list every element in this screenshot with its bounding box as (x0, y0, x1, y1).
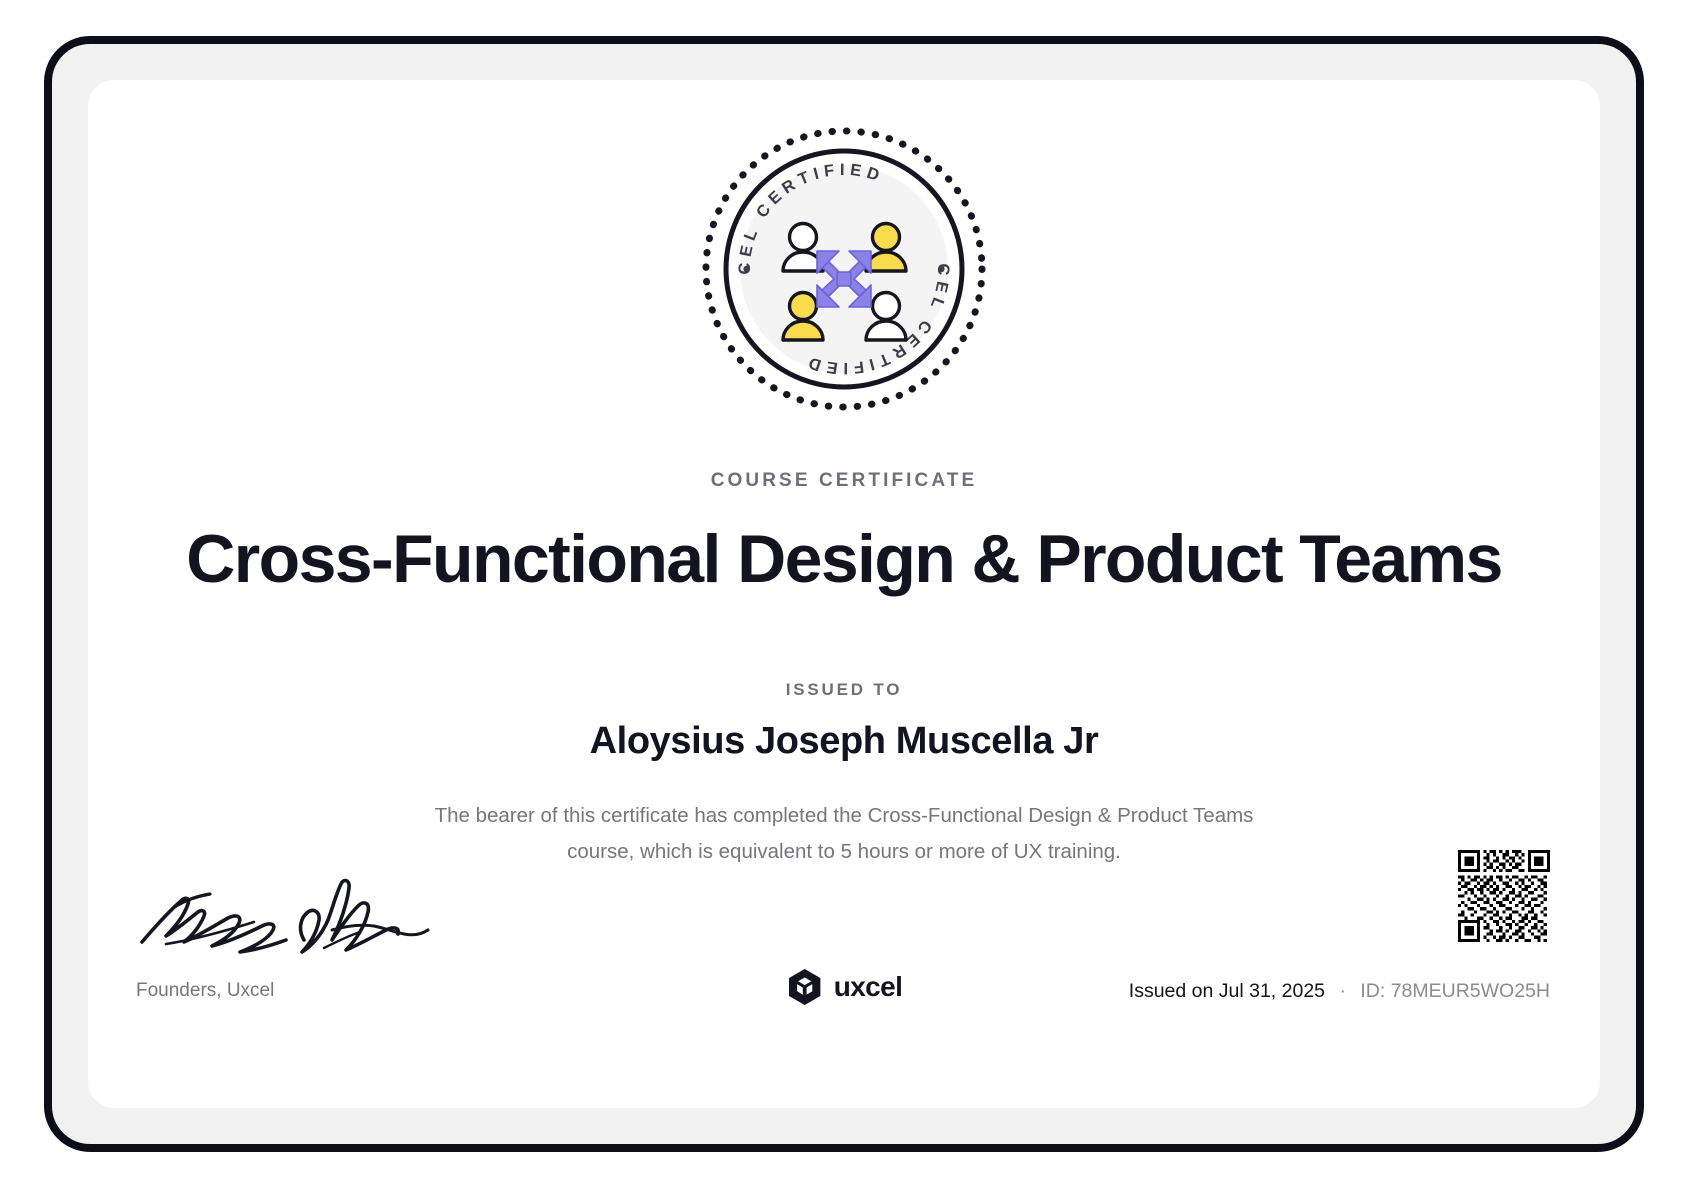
certificate-qr-code[interactable] (1458, 850, 1550, 942)
certificate-eyebrow: COURSE CERTIFICATE (88, 470, 1600, 492)
issue-metadata: Issued on Jul 31, 2025 · ID: 78MEUR5WO25… (1129, 980, 1550, 1003)
signature-marks (136, 870, 456, 962)
certificate-card: UXCEL CERTIFIED UXCEL CERTIFIED (88, 80, 1600, 1108)
uxcel-wordmark: uxcel (834, 973, 903, 1001)
certificate-frame: UXCEL CERTIFIED UXCEL CERTIFIED (44, 36, 1644, 1152)
recipient-name: Aloysius Joseph Muscella Jr (88, 720, 1600, 763)
certification-seal: UXCEL CERTIFIED UXCEL CERTIFIED (699, 124, 989, 414)
issued-to-label: ISSUED TO (88, 680, 1600, 700)
certificate-description: The bearer of this certificate has compl… (434, 798, 1254, 870)
issued-on-date: Issued on Jul 31, 2025 (1129, 980, 1325, 1002)
course-title: Cross-Functional Design & Product Teams (88, 520, 1600, 598)
qr-code-graphic (1458, 850, 1550, 942)
founders-label: Founders, Uxcel (136, 980, 274, 1002)
uxcel-hexagon-logo-icon (786, 968, 824, 1006)
uxcel-brand-logo: uxcel (786, 968, 903, 1006)
certificate-id: ID: 78MEUR5WO25H (1360, 980, 1550, 1002)
meta-separator: · (1330, 980, 1355, 1002)
certification-seal-graphic: UXCEL CERTIFIED UXCEL CERTIFIED (699, 124, 989, 414)
founder-signatures (136, 870, 456, 962)
